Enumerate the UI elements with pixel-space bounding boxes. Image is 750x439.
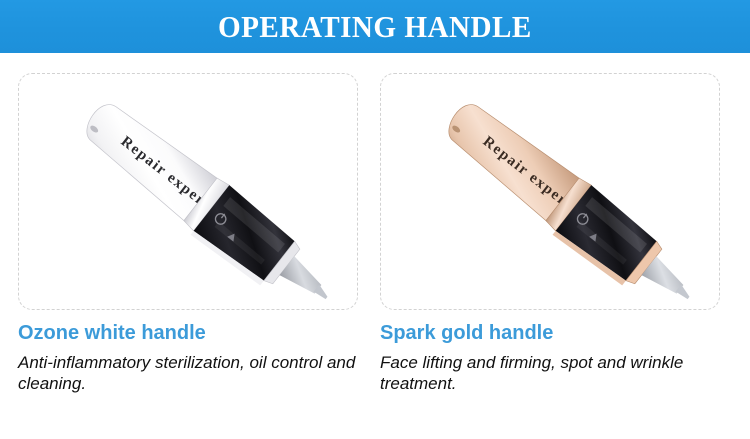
product-title: Ozone white handle bbox=[18, 322, 363, 344]
product-photo-frame: Repair expert bbox=[18, 73, 358, 310]
product-card-spark-gold-handle[interactable]: Repair expert bbox=[380, 73, 725, 394]
product-card-list: Repair expert bbox=[0, 53, 750, 439]
product-description: Face lifting and firming, spot and wrink… bbox=[380, 353, 725, 394]
page-header-banner: OPERATING HANDLE bbox=[0, 0, 750, 53]
product-description: Anti-inflammatory sterilization, oil con… bbox=[18, 353, 363, 394]
page-title: OPERATING HANDLE bbox=[218, 9, 532, 45]
product-photo-frame: Repair expert bbox=[380, 73, 720, 310]
product-card-ozone-white-handle[interactable]: Repair expert bbox=[18, 73, 363, 394]
product-title: Spark gold handle bbox=[380, 322, 725, 344]
product-caption: Ozone white handle Anti-inflammatory ste… bbox=[18, 322, 363, 394]
product-image-ozone-white-handle: Repair expert bbox=[19, 74, 358, 310]
product-image-spark-gold-handle: Repair expert bbox=[381, 74, 720, 310]
product-caption: Spark gold handle Face lifting and firmi… bbox=[380, 322, 725, 394]
